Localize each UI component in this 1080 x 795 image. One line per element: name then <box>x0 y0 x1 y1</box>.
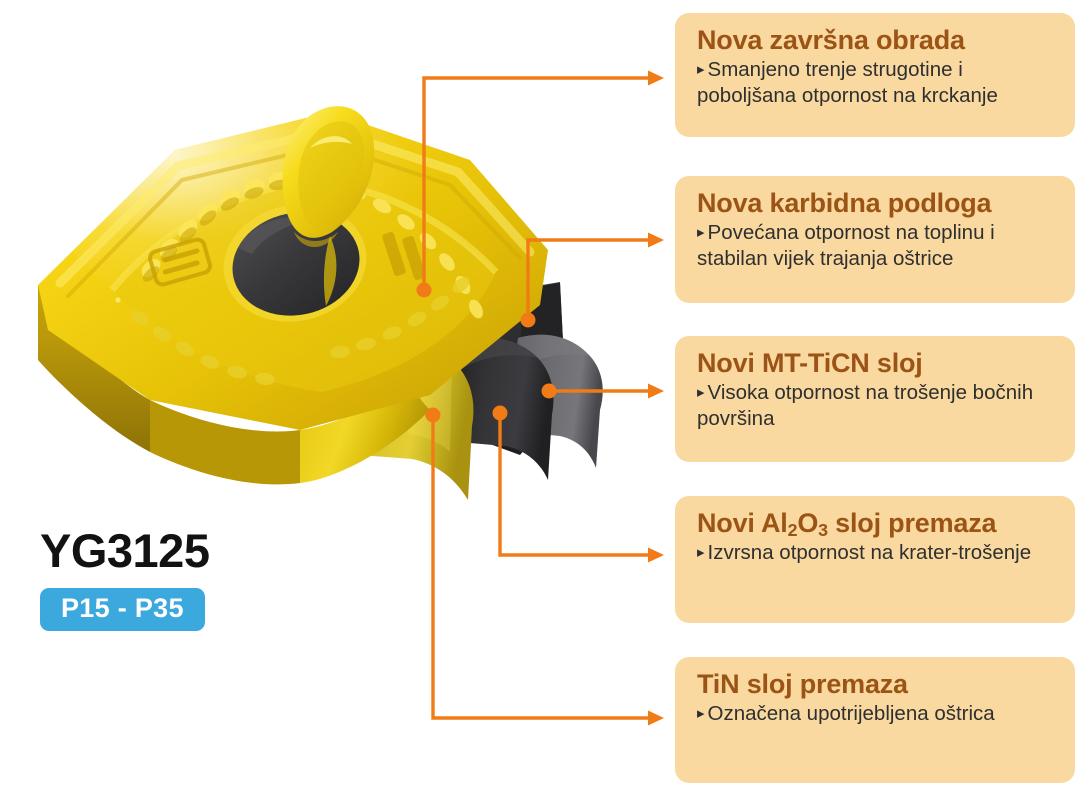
callout-card-tin[interactable]: TiN sloj premaza ▸Označena upotrijebljen… <box>675 657 1075 783</box>
callout-body-text: Povećana otpornost na toplinu i stabilan… <box>697 221 995 270</box>
callout-body: ▸Povećana otpornost na toplinu i stabila… <box>697 220 1055 272</box>
callout-body: ▸Visoka otpornost na trošenje bočnih pov… <box>697 380 1055 432</box>
callout-body: ▸Smanjeno trenje strugotine i poboljšana… <box>697 57 1055 109</box>
bullet-icon: ▸ <box>697 224 705 241</box>
bullet-icon: ▸ <box>697 61 705 78</box>
callout-title-post: sloj premaza <box>828 508 996 538</box>
callout-card-finish[interactable]: Nova završna obrada ▸Smanjeno trenje str… <box>675 13 1075 137</box>
infographic-root: YG3125 P15 - P35 Nova završna obrada ▸Sm… <box>0 0 1080 795</box>
callout-body: ▸Izvrsna otpornost na krater-trošenje <box>697 540 1055 566</box>
callout-body-text: Označena upotrijebljena oštrica <box>708 702 995 725</box>
callout-title-sub-2: 2 <box>788 520 798 540</box>
callout-card-carbide[interactable]: Nova karbidna podloga ▸Povećana otpornos… <box>675 176 1075 303</box>
bullet-icon: ▸ <box>697 705 705 722</box>
callout-title-sub-3: 3 <box>818 520 828 540</box>
bullet-icon: ▸ <box>697 544 705 561</box>
callout-card-mt-ticn[interactable]: Novi MT-TiCN sloj ▸Visoka otpornost na t… <box>675 336 1075 462</box>
grade-badge: P15 - P35 <box>40 588 205 631</box>
callout-title: Novi Al2O3 sloj premaza <box>697 508 1055 538</box>
callout-title-pre: Novi Al <box>697 508 788 538</box>
callout-title: TiN sloj premaza <box>697 669 1055 699</box>
callout-body-text: Visoka otpornost na trošenje bočnih povr… <box>697 381 1033 430</box>
callout-title-mid: O <box>797 508 818 538</box>
callout-title: Nova završna obrada <box>697 25 1055 55</box>
callout-card-alumina[interactable]: Novi Al2O3 sloj premaza ▸Izvrsna otporno… <box>675 496 1075 623</box>
callout-body-text: Izvrsna otpornost na krater-trošenje <box>708 541 1032 564</box>
callout-body-text: Smanjeno trenje strugotine i poboljšana … <box>697 58 998 107</box>
callout-body: ▸Označena upotrijebljena oštrica <box>697 701 1055 727</box>
product-code: YG3125 <box>40 527 209 574</box>
callout-title: Nova karbidna podloga <box>697 188 1055 218</box>
product-label: YG3125 P15 - P35 <box>40 527 209 631</box>
callout-title: Novi MT-TiCN sloj <box>697 348 1055 378</box>
bullet-icon: ▸ <box>697 384 705 401</box>
